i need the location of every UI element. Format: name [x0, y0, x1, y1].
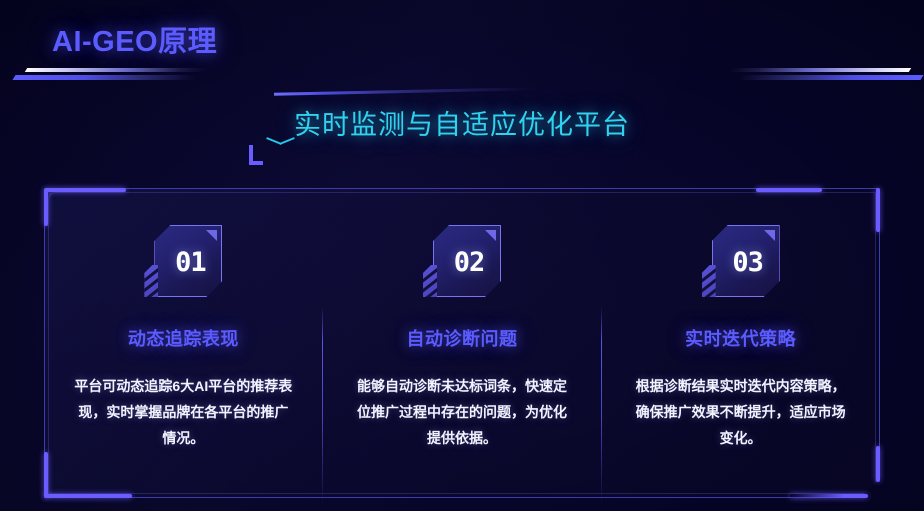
- card-body: 能够自动诊断未达标词条，快速定位推广过程中存在的问题，为优化提供依据。: [353, 373, 571, 451]
- header-rule-right-lower: [738, 75, 923, 80]
- feature-card-1[interactable]: 01 动态追踪表现 平台可动态追踪6大AI平台的推荐表现，实时掌握品牌在各平台的…: [44, 188, 323, 498]
- step-badge-2: 02: [423, 225, 501, 297]
- badge-shape: 02: [433, 225, 501, 297]
- corner-bracket-icon: [249, 145, 263, 165]
- badge-shape: 01: [154, 225, 222, 297]
- step-badge-1: 01: [144, 225, 222, 297]
- feature-card-2[interactable]: 02 自动诊断问题 能够自动诊断未达标词条，快速定位推广过程中存在的问题，为优化…: [323, 188, 602, 498]
- badge-shape: 03: [712, 225, 780, 297]
- badge-number: 03: [732, 247, 763, 278]
- card-title: 自动诊断问题: [407, 325, 518, 351]
- card-body: 根据诊断结果实时迭代内容策略，确保推广效果不断提升，适应市场变化。: [632, 373, 850, 451]
- subtitle: 实时监测与自适应优化平台: [0, 103, 924, 142]
- step-badge-3: 03: [702, 225, 780, 297]
- card-title: 实时迭代策略: [685, 325, 796, 351]
- triangle-notch-icon: [764, 230, 775, 241]
- feature-card-list: 01 动态追踪表现 平台可动态追踪6大AI平台的推荐表现，实时掌握品牌在各平台的…: [44, 188, 880, 498]
- page-title: AI-GEO原理: [52, 18, 217, 60]
- triangle-notch-icon: [485, 230, 496, 241]
- subtitle-accent-rule: [274, 87, 534, 95]
- stripes-icon: [144, 265, 158, 297]
- feature-card-3[interactable]: 03 实时迭代策略 根据诊断结果实时迭代内容策略，确保推广效果不断提升，适应市场…: [601, 188, 880, 498]
- badge-number: 02: [454, 247, 485, 278]
- card-title: 动态追踪表现: [128, 325, 239, 351]
- header-rule-left-upper: [25, 68, 207, 72]
- stripes-icon: [423, 265, 437, 297]
- header-rule-right-upper: [729, 68, 911, 72]
- slide-root: AI-GEO原理 实时监测与自适应优化平台 01 动态追踪表现: [0, 0, 924, 511]
- stripes-icon: [702, 265, 716, 297]
- badge-number: 01: [175, 247, 206, 278]
- triangle-notch-icon: [206, 230, 217, 241]
- header-rule-left-lower: [12, 75, 197, 80]
- card-body: 平台可动态追踪6大AI平台的推荐表现，实时掌握品牌在各平台的推广情况。: [74, 373, 292, 451]
